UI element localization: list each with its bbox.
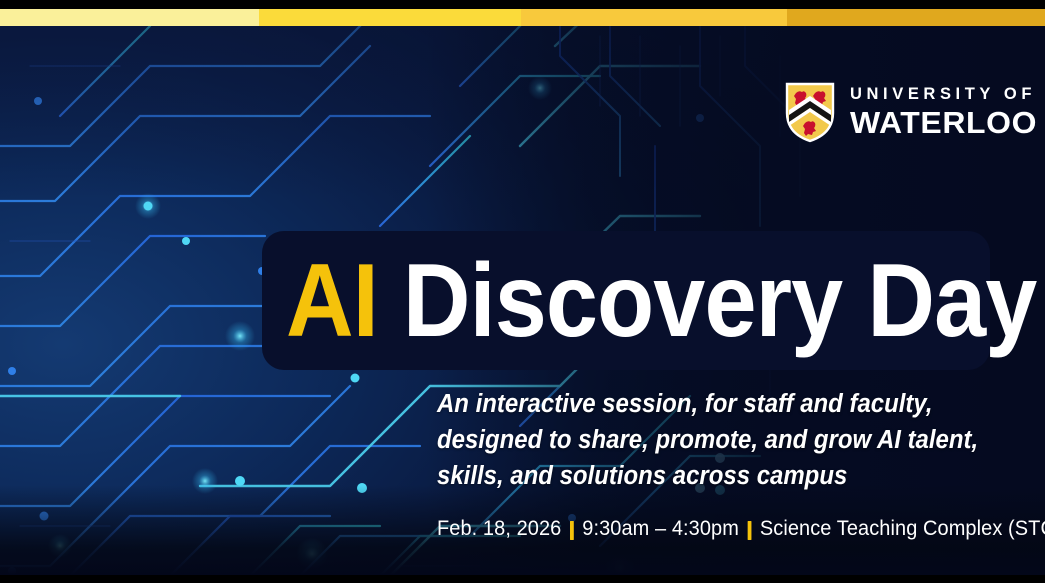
logo-line-waterloo: WATERLOO xyxy=(850,107,1042,138)
gold-segment-dark-gold xyxy=(787,9,1045,26)
bottom-black-bar xyxy=(0,575,1045,583)
gold-accent-bar xyxy=(0,9,1045,26)
title-plate: AI Discovery Day xyxy=(262,231,990,370)
gold-segment-bright-yellow xyxy=(259,9,521,26)
gold-segment-pale-yellow xyxy=(0,9,259,26)
event-date: Feb. 18, 2026 xyxy=(437,517,561,541)
page-title: AI Discovery Day xyxy=(286,249,1036,353)
logo-line-university-of: UNIVERSITY OF xyxy=(850,86,1036,103)
subtitle-line-3: skills, and solutions across campus xyxy=(437,458,963,494)
separator-icon-1 xyxy=(570,521,574,540)
subtitle: An interactive session, for staff and fa… xyxy=(437,386,963,495)
event-time: 9:30am – 4:30pm xyxy=(582,517,739,541)
ai-discovery-day-poster: UNIVERSITY OF WATERLOO AI Discovery Day … xyxy=(0,0,1045,583)
subtitle-line-1: An interactive session, for staff and fa… xyxy=(437,386,963,422)
subtitle-line-2: designed to share, promote, and grow AI … xyxy=(437,422,963,458)
waterloo-shield-icon xyxy=(784,81,836,143)
event-details: Feb. 18, 2026 9:30am – 4:30pm Science Te… xyxy=(437,517,1045,541)
event-location: Science Teaching Complex (STC) xyxy=(760,517,1045,541)
top-black-bar xyxy=(0,0,1045,9)
separator-icon-2 xyxy=(748,521,752,540)
university-of-waterloo-logo: UNIVERSITY OF WATERLOO xyxy=(784,81,1036,143)
poster-artwork-canvas: UNIVERSITY OF WATERLOO AI Discovery Day … xyxy=(0,26,1045,575)
gold-segment-gold xyxy=(521,9,787,26)
title-rest: Discovery Day xyxy=(378,243,1037,359)
title-highlight-ai: AI xyxy=(286,243,378,359)
